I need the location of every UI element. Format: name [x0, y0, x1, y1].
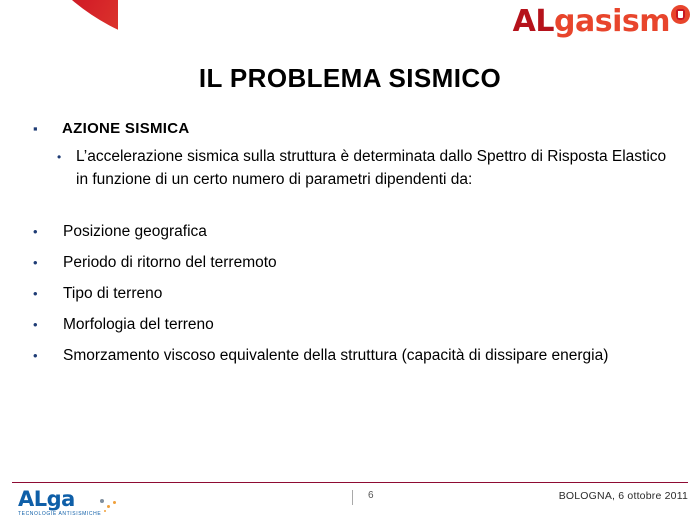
list-item: • Tipo di terreno: [33, 283, 672, 305]
footer-place-date: BOLOGNA, 6 ottobre 2011: [559, 490, 688, 502]
footer-logo: ALga TECNOLOGIE ANTISISMICHE: [18, 488, 138, 517]
list-item-label: Morfologia del terreno: [63, 314, 214, 336]
list-item-label: Tipo di terreno: [63, 283, 162, 305]
round-bullet-icon: •: [33, 225, 63, 238]
red-arc-decoration: [0, 0, 118, 47]
list-item-label: Periodo di ritorno del terremoto: [63, 252, 277, 274]
section-heading-label: AZIONE SISMICA: [62, 120, 190, 137]
list-item: • Periodo di ritorno del terremoto: [33, 252, 672, 274]
brand-logo-prefix: AL: [513, 4, 554, 39]
footer-logo-dots-icon: [100, 499, 122, 511]
section-paragraph: • L’accelerazione sismica sulla struttur…: [0, 145, 700, 191]
footer-vertical-divider: [352, 490, 353, 505]
section-paragraph-text: L’accelerazione sismica sulla struttura …: [76, 145, 672, 191]
section-heading: ▪ AZIONE SISMICA: [0, 120, 700, 137]
brand-logo-wordmark: ALgasism: [513, 6, 670, 38]
shield-badge-icon: [671, 5, 690, 24]
list-item-label: Smorzamento viscoso equivalente della st…: [30, 345, 608, 367]
round-bullet-icon: •: [57, 151, 76, 163]
parameter-list: • Posizione geografica • Periodo di rito…: [0, 221, 700, 367]
square-bullet-icon: ▪: [33, 122, 62, 135]
slide-content: ▪ AZIONE SISMICA • L’accelerazione sismi…: [0, 120, 700, 376]
footer: ALga TECNOLOGIE ANTISISMICHE 6 BOLOGNA, …: [0, 486, 700, 525]
brand-logo-suffix: gasism: [554, 4, 670, 39]
footer-logo-tagline: TECNOLOGIE ANTISISMICHE: [18, 511, 138, 517]
list-item: • Smorzamento viscoso equivalente della …: [33, 345, 672, 367]
round-bullet-icon: •: [33, 318, 63, 331]
brand-logo: ALgasism: [513, 6, 690, 40]
list-item: • Posizione geografica: [33, 221, 672, 243]
list-item: • Morfologia del terreno: [33, 314, 672, 336]
round-bullet-icon: •: [33, 287, 63, 300]
page-title: IL PROBLEMA SISMICO: [0, 63, 700, 94]
red-arc-fill: [0, 0, 118, 47]
footer-divider: [12, 482, 688, 483]
red-arc-cutout: [42, 14, 118, 47]
list-item-label: Posizione geografica: [63, 221, 207, 243]
round-bullet-icon: •: [33, 256, 63, 269]
page-number: 6: [368, 490, 374, 501]
